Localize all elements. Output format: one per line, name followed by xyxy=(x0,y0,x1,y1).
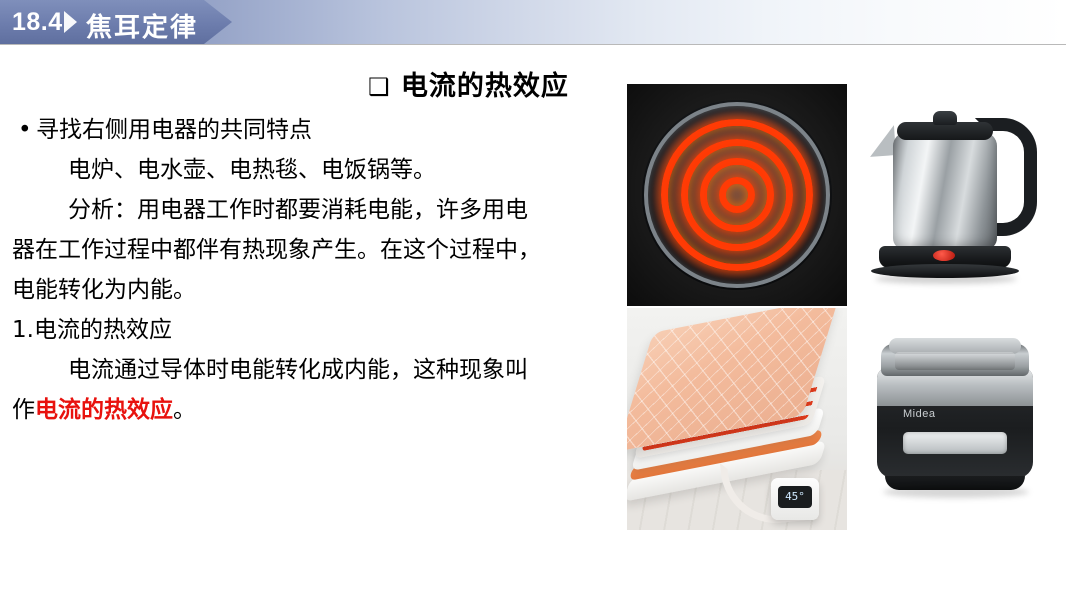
page-title-text: 电流的热效应 xyxy=(401,71,569,102)
cooker-brand-label: Midea xyxy=(903,408,935,420)
body-line-8-suffix: 。 xyxy=(173,397,196,423)
section-number: 18.4 xyxy=(12,8,63,37)
body-line-8: 作电流的热效应。 xyxy=(12,390,622,430)
triangle-right-icon xyxy=(64,11,77,33)
cooker-control-panel xyxy=(895,352,1015,370)
title-marker-icon: ❑ xyxy=(368,73,391,101)
kettle-body xyxy=(893,132,997,250)
page-title: ❑ 电流的热效应 xyxy=(368,64,569,103)
body-text: • 寻找右侧用电器的共同特点 电炉、电水壶、电热毯、电饭锅等。 分析：用电器工作… xyxy=(12,110,622,430)
body-line-6: 1.电流的热效应 xyxy=(12,310,622,350)
section-title: 焦耳定律 xyxy=(86,7,198,44)
stove-rim xyxy=(644,102,830,288)
highlighted-term: 电流的热效应 xyxy=(35,397,173,423)
body-line-5: 电能转化为内能。 xyxy=(12,270,622,310)
electric-stove-photo xyxy=(627,84,847,306)
cooker-shadow xyxy=(883,486,1029,498)
cooker-display-window xyxy=(903,432,1007,454)
body-line-7: 电流通过导体时电能转化成内能，这种现象叫 xyxy=(12,350,622,390)
blanket-controller-display: 45° xyxy=(778,486,812,508)
body-line-8-prefix: 作 xyxy=(12,397,35,423)
slide-header: 18.4 焦耳定律 xyxy=(0,0,1066,44)
header-divider xyxy=(0,44,1066,45)
rice-cooker-photo: Midea xyxy=(855,308,1055,530)
kettle-knob xyxy=(933,111,957,125)
body-line-3: 分析：用电器工作时都要消耗电能，许多用电 xyxy=(12,190,622,230)
kettle-spout xyxy=(868,125,896,157)
kettle-indicator-light xyxy=(933,250,955,261)
body-line-4: 器在工作过程中都伴有热现象产生。在这个过程中， xyxy=(12,230,622,270)
bullet-item-1: • 寻找右侧用电器的共同特点 xyxy=(12,110,622,150)
slide: 18.4 焦耳定律 ❑ 电流的热效应 • 寻找右侧用电器的共同特点 电炉、电水壶… xyxy=(0,0,1066,600)
kettle-shadow xyxy=(875,274,1017,284)
electric-blanket-photo: 45° xyxy=(627,308,847,530)
electric-kettle-photo xyxy=(855,84,1055,306)
bullet-dot-icon: • xyxy=(18,110,32,150)
body-line-1: 寻找右侧用电器的共同特点 xyxy=(36,117,312,143)
body-line-2: 电炉、电水壶、电热毯、电饭锅等。 xyxy=(12,150,622,190)
